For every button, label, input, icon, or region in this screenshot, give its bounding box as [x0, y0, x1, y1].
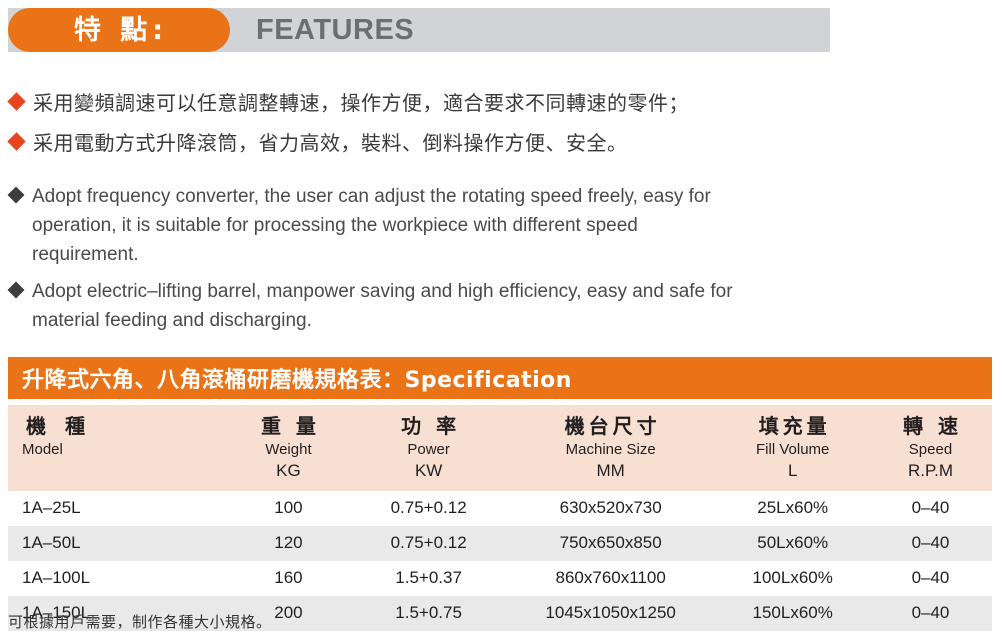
table-header-row: 機 種 Model 重 量 Weight KG 功 率 Power KW 機台尺… — [8, 405, 992, 491]
table-row: 1A–100L 160 1.5+0.37 860x760x1100 100Lx6… — [8, 561, 992, 596]
cell-speed: 0–40 — [869, 491, 992, 526]
list-item: 采用變頻調速可以任意調整轉速，操作方便，適合要求不同轉速的零件； — [10, 88, 970, 118]
list-item: 采用電動方式升降滾筒，省力高效，裝料、倒料操作方便、安全。 — [10, 128, 970, 158]
cell-machine-size: 1045x1050x1250 — [505, 596, 717, 631]
cell-fill-volume: 50Lx60% — [716, 526, 869, 561]
cell-model: 1A–25L — [8, 491, 224, 526]
header-en: Fill Volume — [716, 439, 869, 460]
cell-power: 1.5+0.75 — [352, 596, 505, 631]
specification-table: 機 種 Model 重 量 Weight KG 功 率 Power KW 機台尺… — [8, 405, 992, 631]
features-list-english: Adopt frequency converter, the user can … — [10, 182, 970, 343]
cell-weight: 120 — [224, 526, 352, 561]
header-cn: 機 種 — [22, 413, 224, 439]
header-cn: 功 率 — [352, 413, 505, 439]
header-en: Power — [352, 439, 505, 460]
cell-fill-volume: 100Lx60% — [716, 561, 869, 596]
header-pill-label: 特 點: — [70, 17, 168, 44]
header-unit: KG — [224, 460, 352, 481]
diamond-bullet-icon — [8, 187, 25, 204]
cell-weight: 160 — [224, 561, 352, 596]
header-cn: 機台尺寸 — [505, 413, 717, 439]
features-header: 特 點: FEATURES — [8, 8, 830, 52]
cell-speed: 0–40 — [869, 526, 992, 561]
header-en: Machine Size — [505, 439, 717, 460]
table-row: 1A–25L 100 0.75+0.12 630x520x730 25Lx60%… — [8, 491, 992, 526]
table-header-cell-fill-volume: 填充量 Fill Volume L — [716, 405, 869, 491]
header-unit: R.P.M — [869, 460, 992, 481]
specification-title-bar: 升降式六角、八角滾桶研磨機規格表：Specification — [8, 357, 992, 399]
header-cn: 填充量 — [716, 413, 869, 439]
feature-text-en: Adopt electric–lifting barrel, manpower … — [32, 277, 747, 335]
cell-power: 0.75+0.12 — [352, 491, 505, 526]
diamond-bullet-icon — [7, 92, 25, 110]
cell-power: 0.75+0.12 — [352, 526, 505, 561]
diamond-bullet-icon — [7, 132, 25, 150]
footnote-text: 可根據用戶需要，制作各種大小規格。 — [8, 611, 272, 632]
cell-machine-size: 750x650x850 — [505, 526, 717, 561]
header-unit: MM — [505, 460, 717, 481]
header-cn: 轉 速 — [869, 413, 992, 439]
cell-speed: 0–40 — [869, 561, 992, 596]
diamond-bullet-icon — [8, 282, 25, 299]
header-en: Weight — [224, 439, 352, 460]
feature-text-cn: 采用變頻調速可以任意調整轉速，操作方便，適合要求不同轉速的零件； — [33, 88, 689, 118]
features-list-chinese: 采用變頻調速可以任意調整轉速，操作方便，適合要求不同轉速的零件； 采用電動方式升… — [10, 88, 970, 168]
header-unit: L — [716, 460, 869, 481]
header-english-title: FEATURES — [256, 8, 414, 52]
table-header-cell-weight: 重 量 Weight KG — [224, 405, 352, 491]
cell-machine-size: 630x520x730 — [505, 491, 717, 526]
header-cn: 重 量 — [224, 413, 352, 439]
header-en: Model — [22, 439, 224, 460]
cell-model: 1A–100L — [8, 561, 224, 596]
list-item: Adopt electric–lifting barrel, manpower … — [10, 277, 970, 335]
feature-text-cn: 采用電動方式升降滾筒，省力高效，裝料、倒料操作方便、安全。 — [33, 128, 628, 158]
table-header-cell-machine-size: 機台尺寸 Machine Size MM — [505, 405, 717, 491]
cell-power: 1.5+0.37 — [352, 561, 505, 596]
cell-machine-size: 860x760x1100 — [505, 561, 717, 596]
table-header-cell-speed: 轉 速 Speed R.P.M — [869, 405, 992, 491]
list-item: Adopt frequency converter, the user can … — [10, 182, 970, 269]
cell-fill-volume: 150Lx60% — [716, 596, 869, 631]
header-orange-pill: 特 點: — [8, 8, 230, 52]
table-header-cell-model: 機 種 Model — [8, 405, 224, 491]
table-row: 1A–50L 120 0.75+0.12 750x650x850 50Lx60%… — [8, 526, 992, 561]
header-en: Speed — [869, 439, 992, 460]
feature-text-en: Adopt frequency converter, the user can … — [32, 182, 747, 269]
table-header-cell-power: 功 率 Power KW — [352, 405, 505, 491]
header-unit: KW — [352, 460, 505, 481]
cell-weight: 100 — [224, 491, 352, 526]
cell-fill-volume: 25Lx60% — [716, 491, 869, 526]
cell-model: 1A–50L — [8, 526, 224, 561]
specification-title: 升降式六角、八角滾桶研磨機規格表：Specification — [8, 362, 572, 394]
cell-speed: 0–40 — [869, 596, 992, 631]
